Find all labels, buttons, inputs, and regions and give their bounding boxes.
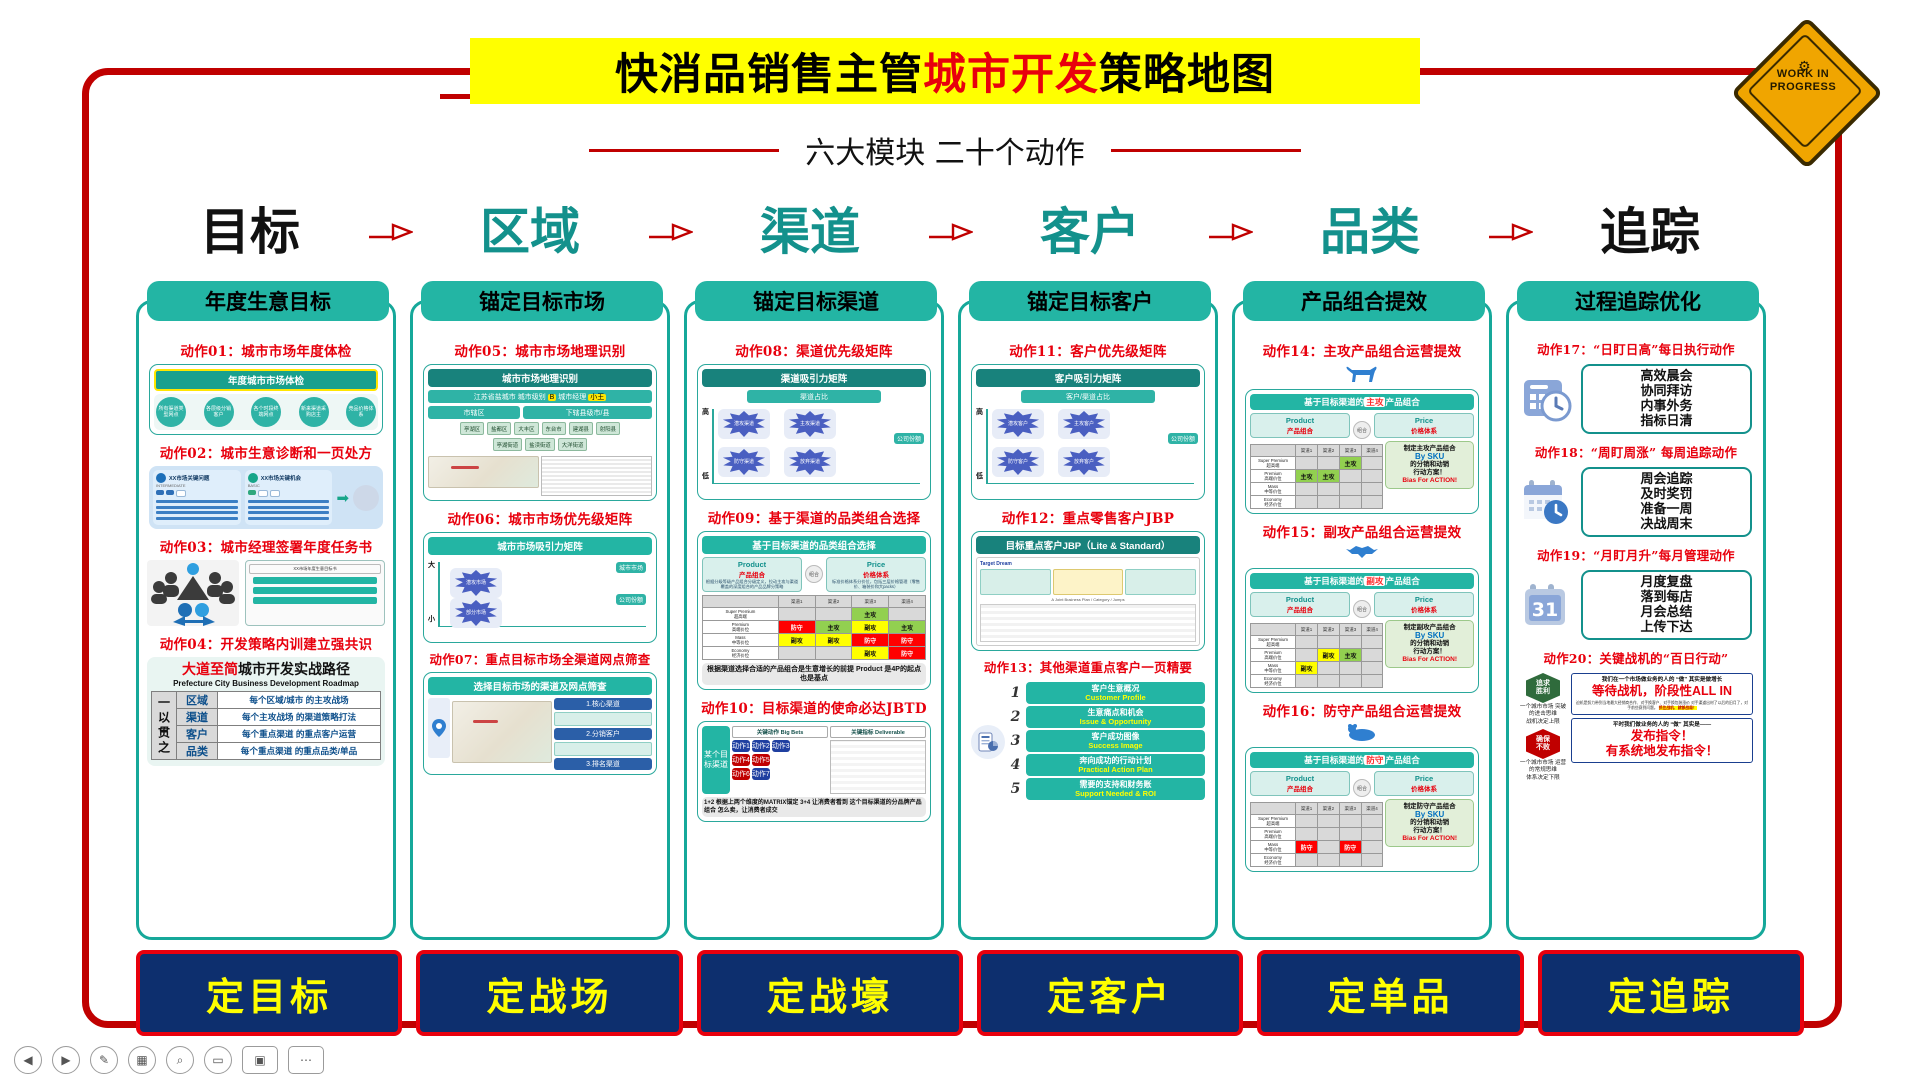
action-label-02: 动作02：城市生意诊断和一页处方: [147, 442, 385, 462]
column-caption-1: 年度生意目标: [147, 281, 389, 321]
cell: [778, 647, 815, 660]
a19-box: 月度复盘 落到每店 月会总结 上传下达: [1581, 570, 1752, 640]
grid-icon[interactable]: ▦: [128, 1046, 156, 1074]
a15-grid-row: 渠道1渠道2渠道3渠道4 Super Premium超高端 Premium高端价…: [1250, 620, 1474, 688]
prev-slide-button[interactable]: ◀: [14, 1046, 42, 1074]
a15-sidebox: 制定副攻产品组合 By SKU 的分销和动销 行动方案！ Bias For AC…: [1385, 620, 1474, 668]
cell: [1361, 675, 1382, 688]
sidebox-l5: Bias For ACTION!: [1388, 835, 1471, 843]
report-chart-icon: [971, 725, 1005, 759]
sidebox-l3: 的分销和动销: [1388, 640, 1471, 648]
cell: 防守: [852, 634, 889, 647]
subtitle-rule-left: [589, 149, 779, 152]
action-12-card: 目标重点客户JBP（Lite & Standard） Target Dream …: [971, 531, 1205, 651]
a05-header: 城市市场地理识别: [428, 369, 652, 387]
bull-icon: [1243, 364, 1481, 389]
column-caption-3: 锚定目标渠道: [695, 281, 937, 321]
a10-bigbets-3: 动作6 动作7: [732, 768, 828, 780]
tier-label: Super Premium超高端: [1251, 815, 1296, 828]
stage-arrow-5: [1470, 215, 1550, 249]
a03-row-1: [253, 577, 377, 584]
ribbon-post: 产品组合: [1385, 397, 1419, 407]
table-row: 渠道1渠道2渠道3渠道4: [1251, 445, 1383, 457]
table-row: Premium高端价位主攻主攻: [1251, 470, 1383, 483]
cell: [1361, 828, 1383, 841]
action-06-card: 城市市场吸引力矩阵 大 小 城市市场 公司份额 潜攻市场 部分市场: [423, 532, 657, 643]
matrix-cell: 部分市场: [450, 598, 502, 628]
cell: 主攻: [1339, 649, 1361, 662]
ribbon-pre: 基于目标渠道的: [1304, 755, 1364, 765]
tier-label: Economy经济价位: [1251, 854, 1296, 867]
a14-sidebox: 制定主攻产品组合 By SKU 的分销和动销 行动方案！ Bias For AC…: [1385, 441, 1474, 489]
list-item: 1客户生意概况Customer Profile: [1009, 682, 1205, 704]
product-cn: 产品组合: [1253, 783, 1347, 793]
action-label-18: 动作18：“周盯周涨” 每周追踪动作: [1517, 443, 1755, 461]
a02-left-title: XX市场关键问题: [169, 474, 209, 482]
a02-panel-left: XX市场关键问题 INTERMEDIATE: [153, 470, 241, 525]
module-column-2: 锚定目标市场 动作05：城市市场地理识别 城市市场地理识别 江苏省盐城市 城市级…: [410, 300, 670, 940]
cell: [1295, 854, 1317, 867]
slide-canvas: 快消品销售主管城市开发策略地图 六大模块 二十个动作 ⚙ WORK IN PRO…: [0, 0, 1920, 1080]
matrix-cell: 防守客户: [992, 447, 1044, 477]
product-desc: 根据分级等级产品组合分级定义，拉动主攻与渠道覆盖的深度组合的产品品牌分策略: [705, 579, 799, 589]
item-box: 需要的支持和财务账Support Needed & ROI: [1026, 778, 1205, 800]
table-row: Premium高端价位副攻主攻: [1251, 649, 1383, 662]
matrix-cell: 潜攻市场: [450, 568, 502, 598]
a01-circle: 各个时段终端网点: [251, 397, 281, 427]
a14-grid-table: 渠道1渠道2渠道3渠道4 Super Premium超高端主攻 Premium高…: [1250, 444, 1383, 509]
cell: [1361, 636, 1382, 649]
a07-body: 1.核心渠道 2.分销客户 3.排名渠道: [428, 698, 652, 770]
a07-map-image: [452, 701, 552, 763]
a03-row-3: [253, 597, 377, 604]
action-08-card: 渠道吸引力矩阵 渠道占比 高 低 公司份额 潜攻渠道 主攻渠道 防守渠道 放弃渠…: [697, 364, 931, 500]
col-header: 渠道1: [1295, 445, 1317, 457]
tier-label: Economy经济价位: [1251, 496, 1296, 509]
cell: 主攻: [1295, 470, 1317, 483]
cell: [1318, 854, 1339, 867]
a07-step: 3.排名渠道: [554, 758, 652, 770]
col-header: 渠道4: [1361, 803, 1383, 815]
calendar-clock-icon: [1520, 475, 1574, 529]
cell: [1318, 828, 1339, 841]
ribbon-pre: 基于目标渠道的: [1304, 397, 1364, 407]
tier-label: Premium高端价位: [1251, 649, 1296, 662]
action-label-17: 动作17：“日盯日高”每日执行动作: [1517, 340, 1755, 358]
module-column-3: 锚定目标渠道 动作08：渠道优先级矩阵 渠道吸引力矩阵 渠道占比 高 低 公司份…: [684, 300, 944, 940]
product-box: Product产品组合: [1250, 771, 1350, 796]
cell: [1339, 470, 1361, 483]
tier-label: Super Premium超高端: [1251, 457, 1296, 470]
a11-matrix: 高 低 公司份额 潜攻客户 主攻客户 防守客户 放弃客户: [976, 405, 1200, 495]
matrix-tag-share: 公司份额: [1168, 433, 1198, 444]
ribbon-post: 产品组合: [1385, 576, 1419, 586]
bar: [248, 517, 330, 520]
seal-item: 确保不败 一个城市市场 运营的常规思维 体系决定下限: [1519, 729, 1567, 782]
price-en: Price: [1377, 774, 1471, 783]
list-item: 4奔向成功的行动计划Practical Action Plan: [1009, 754, 1205, 776]
table-row: Super Premium超高端主攻: [1251, 457, 1383, 470]
stage-label-3: 渠道: [710, 202, 910, 262]
work-in-progress-badge: ⚙ WORK IN PROGRESS: [1742, 28, 1864, 150]
table-row: Mass中等价位: [1251, 483, 1383, 496]
a20-seals: 追求胜利 一个城市市场 突破的进击思维 战机决定上限 确保不败 一个城市市场 运…: [1519, 673, 1567, 785]
cell: [1361, 457, 1382, 470]
a07-step-detail: [554, 712, 652, 726]
action-09-card: 基于目标渠道的品类组合选择 Product 产品组合 根据分级等级产品组合分级定…: [697, 531, 931, 690]
a02-panel-right: XX市场关键机会 BASIC: [245, 470, 333, 525]
tier-label: Mass中等价位: [1251, 841, 1296, 854]
price-en: Price: [1377, 595, 1471, 604]
sidebox-l4: 行动方案！: [1388, 469, 1471, 477]
a18-line: 及时奖罚: [1585, 487, 1748, 502]
a10-col2-wrap: 关键动作 Big Bets 动作1 动作2 动作3 动作4 动作5 动作6: [732, 726, 828, 794]
sidebox-l4: 行动方案！: [1388, 648, 1471, 656]
roadmap-subtitle-en: Prefecture City Business Development Roa…: [151, 679, 381, 688]
bar: [248, 506, 330, 509]
ribbon-post: 产品组合: [1385, 755, 1419, 765]
item-box: 奔向成功的行动计划Practical Action Plan: [1026, 754, 1205, 776]
cell: [1317, 662, 1339, 675]
cell: 副攻: [852, 647, 889, 660]
a17-box: 高效晨会 协同拜访 内事外务 指标日清: [1581, 364, 1752, 434]
action-label-16: 动作16：防守产品组合运营提效: [1243, 700, 1481, 720]
seal-caption: 一个城市市场 运营的常规思维: [1519, 760, 1567, 774]
col-header: 渠道2: [1318, 803, 1339, 815]
matrix-y-axis: [438, 562, 440, 626]
list-item: 2生意痛点和机会Issue & Opportunity: [1009, 706, 1205, 728]
footer-banner-2: 定战场: [416, 950, 682, 1036]
roadmap-key: 区域: [177, 692, 218, 708]
footer-label: 定战场: [486, 966, 612, 1021]
a16-sidebox: 制定防守产品组合 By SKU 的分销和动销 行动方案！ Bias For AC…: [1385, 799, 1474, 847]
a20-card2-big: 发布指令！: [1575, 729, 1749, 744]
price-box: Price 价格体系 标准价格体系分价位，包括三层价格管理（零售价、箱装价和大p…: [826, 557, 926, 592]
footer-banner-1: 定目标: [136, 950, 402, 1036]
table-row: Mass中等价位防守防守: [1251, 841, 1383, 854]
product-cn: 产品组合: [1253, 604, 1347, 614]
action-label-11: 动作11：客户优先级矩阵: [969, 340, 1207, 360]
bar: [156, 517, 238, 520]
a05-level-label: 城市级别: [518, 394, 546, 401]
seal-l2: 胜利: [1536, 688, 1550, 696]
tree-node: 大洋街道: [558, 438, 588, 451]
roadmap-rows: 区域每个区域/城市 的主攻战场 渠道每个主攻战场 的渠道策略打法 客户每个重点渠…: [177, 692, 380, 759]
a10-deliverable-list: [830, 740, 926, 794]
camera-icon[interactable]: ▣: [242, 1046, 278, 1074]
cell: 主攻: [1339, 457, 1361, 470]
footer-banner-4: 定客户: [977, 950, 1243, 1036]
present-icon[interactable]: ▭: [204, 1046, 232, 1074]
join-label: 组合: [1353, 779, 1371, 797]
cell: [1339, 815, 1361, 828]
table-row: 区域每个区域/城市 的主攻战场: [177, 692, 380, 709]
seal-red-note: 战机决定上限: [1519, 719, 1567, 726]
bar: [248, 500, 330, 503]
price-cn: 价格体系: [1377, 425, 1471, 435]
a09-header: 基于目标渠道的品类组合选择: [702, 536, 926, 554]
item-en: Support Needed & ROI: [1026, 789, 1205, 798]
a02-left-title-row: XX市场关键问题: [156, 473, 238, 483]
axis-label-low: 低: [702, 471, 709, 481]
tier-label: Premium高端价位: [1251, 828, 1296, 841]
roadmap-value: 每个区域/城市 的主攻战场: [218, 692, 380, 708]
calendar-31-icon: 31: [1520, 578, 1574, 632]
footer-banner-6: 定追踪: [1538, 950, 1804, 1036]
cell: 副攻: [1295, 662, 1317, 675]
title-part-1: 快消品销售主管: [615, 50, 923, 100]
a15-grid-table: 渠道1渠道2渠道3渠道4 Super Premium超高端 Premium高端价…: [1250, 623, 1383, 688]
a18-line: 周会追踪: [1585, 472, 1748, 487]
stage-arrow-1: [350, 215, 430, 249]
seal-l1: 追求: [1536, 680, 1550, 688]
item-cn: 奔向成功的行动计划: [1026, 756, 1205, 765]
cell: 主攻: [852, 608, 889, 621]
action-label-01: 动作01：城市市场年度体检: [147, 340, 385, 360]
a19-line: 落到每店: [1585, 590, 1748, 605]
segment: [156, 490, 164, 495]
seal-red-icon: 确保不败: [1526, 729, 1560, 759]
star-shape: 防守渠道: [722, 449, 766, 475]
cell: [815, 608, 852, 621]
bear-icon: [1243, 724, 1481, 747]
product-en: Product: [1253, 595, 1347, 604]
bigbet-chip: 动作5: [752, 754, 770, 766]
table-row: 品类每个重点渠道 的重点品类/单品: [177, 743, 380, 759]
product-box: Product产品组合: [1250, 413, 1350, 438]
action-02-card: XX市场关键问题 INTERMEDIATE XX市场关键机会 BASIC ➡: [149, 466, 383, 529]
cell: [1317, 636, 1339, 649]
page-title: 快消品销售主管城市开发策略地图: [615, 40, 1275, 102]
action-label-09: 动作09：基于渠道的品类组合选择: [695, 507, 933, 527]
matrix-cell: 防守渠道: [718, 447, 770, 477]
action-label-06: 动作06：城市市场优先级矩阵: [421, 508, 659, 528]
cell: [1295, 496, 1317, 509]
roadmap-key: 客户: [177, 726, 218, 742]
item-cn: 生意痛点和机会: [1026, 708, 1205, 717]
a14-grid-row: 渠道1渠道2渠道3渠道4 Super Premium超高端主攻 Premium高…: [1250, 441, 1474, 509]
svg-text:31: 31: [1532, 599, 1558, 621]
cell: [1339, 675, 1361, 688]
price-en: Price: [1377, 416, 1471, 425]
column-caption-4: 锚定目标客户: [969, 281, 1211, 321]
tier-label: Economy经济价位: [1251, 675, 1296, 688]
a02-right-title-row: XX市场关键机会: [248, 473, 330, 483]
product-cn: 产品组合: [1253, 425, 1347, 435]
action-03-card: XX市场年度生意目标书: [147, 560, 385, 626]
tree-node: 东台市: [542, 422, 566, 435]
a12-sub: A Joint Business Plan / Category / Jumps: [980, 597, 1196, 602]
roadmap-left-label: 一以贯之: [152, 692, 177, 759]
cell: 副攻: [852, 621, 889, 634]
bigbet-chip: 动作6: [732, 768, 750, 780]
tree-node: 建湖县: [569, 422, 593, 435]
a06-matrix: 大 小 城市市场 公司份额 潜攻市场 部分市场: [428, 558, 652, 638]
star-shape: 潜攻渠道: [722, 411, 766, 437]
badge-line-1: WORK IN: [1742, 68, 1864, 81]
bar: [156, 506, 238, 509]
roadmap-value: 每个重点渠道 的重点客户运营: [218, 726, 380, 742]
action-17-card: 高效晨会 协同拜访 内事外务 指标日清: [1517, 362, 1755, 436]
map-pin-icon: [428, 698, 450, 758]
matrix-x-axis: [712, 483, 920, 485]
product-box: Product 产品组合 根据分级等级产品组合分级定义，拉动主攻与渠道覆盖的深度…: [702, 557, 802, 592]
col-header: 渠道4: [1361, 445, 1382, 457]
cell: [1317, 496, 1339, 509]
a12-target: Target Dream: [980, 561, 1196, 567]
action-label-14: 动作14：主攻产品组合运营提效: [1243, 340, 1481, 360]
matrix-cell: 主攻渠道: [784, 409, 836, 439]
price-cn: 价格体系: [829, 569, 923, 579]
item-number: 5: [1009, 781, 1022, 797]
seal-caption: 一个城市市场 突破的进击思维: [1519, 704, 1567, 718]
a10-body: 某个目标渠道 关键动作 Big Bets 动作1 动作2 动作3 动作4 动作5: [702, 726, 926, 794]
cell: [1317, 675, 1339, 688]
sidebox-l3: 的分销和动销: [1388, 819, 1471, 827]
cell: [1295, 636, 1317, 649]
cell: [815, 647, 852, 660]
star-shape: 放弃渠道: [788, 449, 832, 475]
corner-cell: [1251, 624, 1296, 636]
stage-arrow-4: [1190, 215, 1270, 249]
column-caption-6: 过程追踪优化: [1517, 281, 1759, 321]
next-slide-button[interactable]: ▶: [52, 1046, 80, 1074]
segment: [258, 490, 268, 497]
a07-step-detail: [554, 742, 652, 756]
a05-branch-left: 市辖区: [428, 406, 520, 419]
axis-label-high: 高: [976, 407, 983, 417]
zoom-icon[interactable]: ⌕: [166, 1046, 194, 1074]
star-shape: 主攻渠道: [788, 411, 832, 437]
action-label-13: 动作13：其他渠道重点客户一页精要: [969, 658, 1207, 676]
price-en: Price: [829, 560, 923, 569]
a02-right-segments: [248, 490, 330, 497]
module-column-4: 锚定目标客户 动作11：客户优先级矩阵 客户吸引力矩阵 客户/渠道占比 高 低 …: [958, 300, 1218, 940]
action-label-10: 动作10：目标渠道的使命必达JBTD: [695, 697, 933, 717]
stage-label-2: 区域: [430, 202, 630, 262]
roadmap-value: 每个主攻战场 的渠道策略打法: [218, 709, 380, 725]
star-shape: 潜攻市场: [454, 570, 498, 596]
col-header: 渠道4: [1361, 624, 1382, 636]
matrix-x-axis: [986, 483, 1194, 485]
meeting-people-icon: [147, 560, 239, 626]
roadmap-card: 大道至简城市开发实战路径 Prefecture City Business De…: [147, 657, 385, 766]
action-07-card: 选择目标市场的渠道及网点筛查 1.核心渠道 2.分销客户 3.排名渠道: [423, 672, 657, 775]
a08-matrix: 高 低 公司份额 潜攻渠道 主攻渠道 防守渠道 放弃渠道: [702, 405, 926, 495]
a10-col3-header: 关键指标 Deliverable: [830, 726, 926, 738]
cell: 防守: [1295, 841, 1317, 854]
item-cn: 客户成功图像: [1026, 732, 1205, 741]
a05-city-row: 江苏省盐城市 城市级别 B 城市经理 小王: [428, 390, 652, 403]
table-row: Economy经济价位: [1251, 854, 1383, 867]
a09-4p-row: Product 产品组合 根据分级等级产品组合分级定义，拉动主攻与渠道覆盖的深度…: [702, 557, 926, 592]
cell: 防守: [778, 621, 815, 634]
footer-banner-3: 定战壕: [697, 950, 963, 1036]
join-label: 组合: [1353, 421, 1371, 439]
cell: [1295, 457, 1317, 470]
a05-bottom-row: [428, 453, 652, 496]
calendar-clock-icon: [1520, 372, 1574, 426]
arrow-right-icon: ➡: [336, 470, 349, 525]
a05-branch-right: 下辖县级市/县: [523, 406, 652, 419]
cell: 副攻: [1317, 649, 1339, 662]
clock-icon: [156, 473, 166, 483]
bigbet-chip: 动作7: [752, 768, 770, 780]
table-row: Economy经济价位: [1251, 496, 1383, 509]
matrix-cell: 潜攻客户: [992, 409, 1044, 439]
item-en: Practical Action Plan: [1026, 765, 1205, 774]
star-shape: 防守客户: [996, 449, 1040, 475]
star-shape: 放弃客户: [1062, 449, 1106, 475]
tier-label: Premium高端价位: [1251, 470, 1296, 483]
roadmap-table: 一以贯之 区域每个区域/城市 的主攻战场 渠道每个主攻战场 的渠道策略打法 客户…: [151, 691, 381, 760]
a20-card1-big: 等待战机，阶段性ALL IN: [1575, 684, 1749, 699]
table-row: 渠道1渠道2渠道3渠道4: [1251, 803, 1383, 815]
action-13-card: 1客户生意概况Customer Profile 2生意痛点和机会Issue & …: [969, 680, 1207, 804]
cell: 防守: [1339, 841, 1361, 854]
a20-card1-fine: 迫机是努力带到当地最大经销商合作、对手换客户、对手换包装涨价 对手渠道出材了以后…: [1575, 701, 1749, 711]
more-icon[interactable]: ⋯: [288, 1046, 324, 1074]
tier-label: Mass中等价位: [1251, 483, 1296, 496]
bulb-icon: [248, 473, 258, 483]
stage-header-row: 目标 区域 渠道 客户 品类 追踪: [150, 192, 1800, 272]
price-cn: 价格体系: [1377, 783, 1471, 793]
a05-nodes-left: 亭湖区 盐都区 大丰区 东台市 建湖县 射阳县: [428, 422, 652, 435]
bar: [156, 511, 238, 514]
seal-green-icon: 追求胜利: [1526, 673, 1560, 703]
tier-label: Mass中等价位: [1251, 662, 1296, 675]
price-box: Price价格体系: [1374, 413, 1474, 438]
matrix-cell: 放弃渠道: [784, 447, 836, 477]
cell: [1339, 496, 1361, 509]
item-number: 1: [1009, 685, 1022, 701]
a05-mgr-label: 城市经理: [558, 394, 586, 401]
a15-ribbon: 基于目标渠道的副攻产品组合: [1250, 573, 1474, 589]
doc-block: [1053, 569, 1124, 595]
a10-col2-header: 关键动作 Big Bets: [732, 726, 828, 738]
a02-panels: XX市场关键问题 INTERMEDIATE XX市场关键机会 BASIC ➡: [149, 466, 383, 529]
ribbon-highlight: 副攻: [1364, 576, 1385, 586]
cell: [1317, 457, 1339, 470]
cell: [1361, 483, 1382, 496]
a01-circle: 所有渠道类型网点: [156, 397, 186, 427]
footer-label: 定单品: [1327, 966, 1453, 1021]
col-header: 渠道1: [1295, 624, 1317, 636]
sidebox-l2: By SKU: [1388, 632, 1471, 640]
a20-card-1: 我们在一个市场做业务的人的 “做” 其实是做增长 等待战机，阶段性ALL IN …: [1571, 673, 1753, 715]
slide-title-band: 快消品销售主管城市开发策略地图: [470, 38, 1420, 104]
a01-circle-row: 所有渠道类型网点 各层级分销客户 各个时段终端网点 新来渠道采购店主 竞品价格体…: [154, 394, 378, 430]
tree-node: 盐渎街道: [525, 438, 555, 451]
cell: 副攻: [815, 634, 852, 647]
pen-icon[interactable]: ✎: [90, 1046, 118, 1074]
action-label-15: 动作15：副攻产品组合运营提效: [1243, 521, 1481, 541]
product-cn: 产品组合: [705, 569, 799, 579]
a05-mgr-name: 小王: [588, 394, 606, 401]
roadmap-value: 每个重点渠道 的重点品类/单品: [218, 743, 380, 759]
roadmap-title: 大道至简城市开发实战路径: [151, 662, 381, 678]
cell: [1339, 483, 1361, 496]
col-header: 渠道2: [815, 596, 852, 608]
action-label-20: 动作20：关键战机的“百日行动”: [1517, 649, 1755, 667]
a12-header: 目标重点客户JBP（Lite & Standard）: [976, 536, 1200, 554]
action-18-card: 周会追踪 及时奖罚 准备一周 决战周末: [1517, 465, 1755, 539]
product-en: Product: [705, 560, 799, 569]
a20-card1-top: 我们在一个市场做业务的人的 “做” 其实是做增长: [1575, 677, 1749, 684]
data-grid-thumbnail: [541, 456, 652, 496]
table-row: Mass中等价位副攻: [1251, 662, 1383, 675]
action-11-card: 客户吸引力矩阵 客户/渠道占比 高 低 公司份额 潜攻客户 主攻客户 防守客户 …: [971, 364, 1205, 500]
